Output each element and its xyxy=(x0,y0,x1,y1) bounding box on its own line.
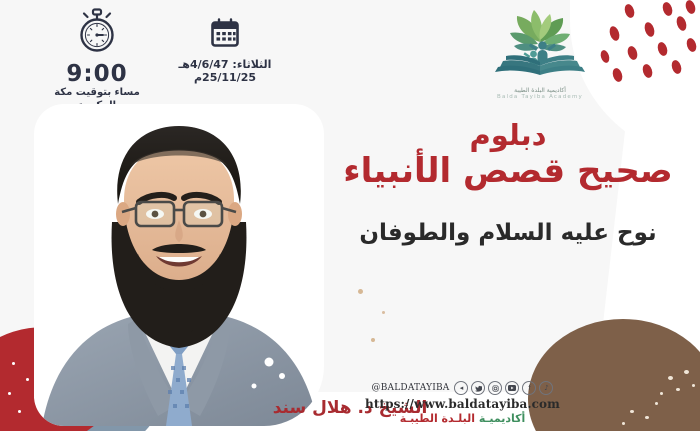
event-date-block: الثلاثاء: 4/6/47هـ 25/11/25م xyxy=(150,18,300,84)
social-handle: @BALDATAYIBA xyxy=(372,383,450,393)
title-area: دبلوم صحيح قصص الأنبياء نوح عليه السلام … xyxy=(338,120,678,247)
footer: @BALDATAYIBA ◂ f ♪ https://www.baldatayi… xyxy=(335,381,590,425)
event-poster: 9:00 مساء بتوقيت مكة المكرمة xyxy=(0,0,700,431)
event-date-text: الثلاثاء: 4/6/47هـ 25/11/25م xyxy=(150,58,300,84)
title-diploma: دبلوم xyxy=(338,120,678,150)
stopwatch-icon xyxy=(40,8,154,60)
event-time-note-line1: مساء بتوقيت مكة xyxy=(40,87,154,100)
academy-name-part-red: البلـدة الطيبـة xyxy=(400,412,475,425)
academy-name-part-green: أكاديميـة xyxy=(479,412,525,425)
footer-social-row: @BALDATAYIBA ◂ f ♪ xyxy=(335,381,590,395)
website-url[interactable]: https://www.baldatayiba.com xyxy=(335,397,590,411)
telegram-icon[interactable]: ◂ xyxy=(454,381,468,395)
calendar-icon xyxy=(150,18,300,52)
event-time-block: 9:00 مساء بتوقيت مكة المكرمة xyxy=(40,8,154,112)
twitter-icon[interactable] xyxy=(471,381,485,395)
instagram-icon[interactable] xyxy=(488,381,502,395)
academy-logo-caption-en: Balda Tayiba Academy xyxy=(480,94,600,100)
tiktok-icon[interactable]: ♪ xyxy=(539,381,553,395)
academy-logo: أكاديمية البلدة الطيبة Balda Tayiba Acad… xyxy=(480,4,600,100)
title-subtitle: نوح عليه السلام والطوفان xyxy=(338,220,678,248)
academy-name-footer: أكاديميـة البلـدة الطيبـة xyxy=(335,412,590,425)
tree-book-academy-logo-icon xyxy=(486,67,594,86)
speaker-portrait xyxy=(34,104,324,426)
event-time-value: 9:00 xyxy=(40,62,154,86)
youtube-icon[interactable] xyxy=(505,381,519,395)
facebook-icon[interactable]: f xyxy=(522,381,536,395)
academy-logo-caption-ar: أكاديمية البلدة الطيبة xyxy=(480,87,600,94)
title-main: صحيح قصص الأنبياء xyxy=(338,152,678,191)
